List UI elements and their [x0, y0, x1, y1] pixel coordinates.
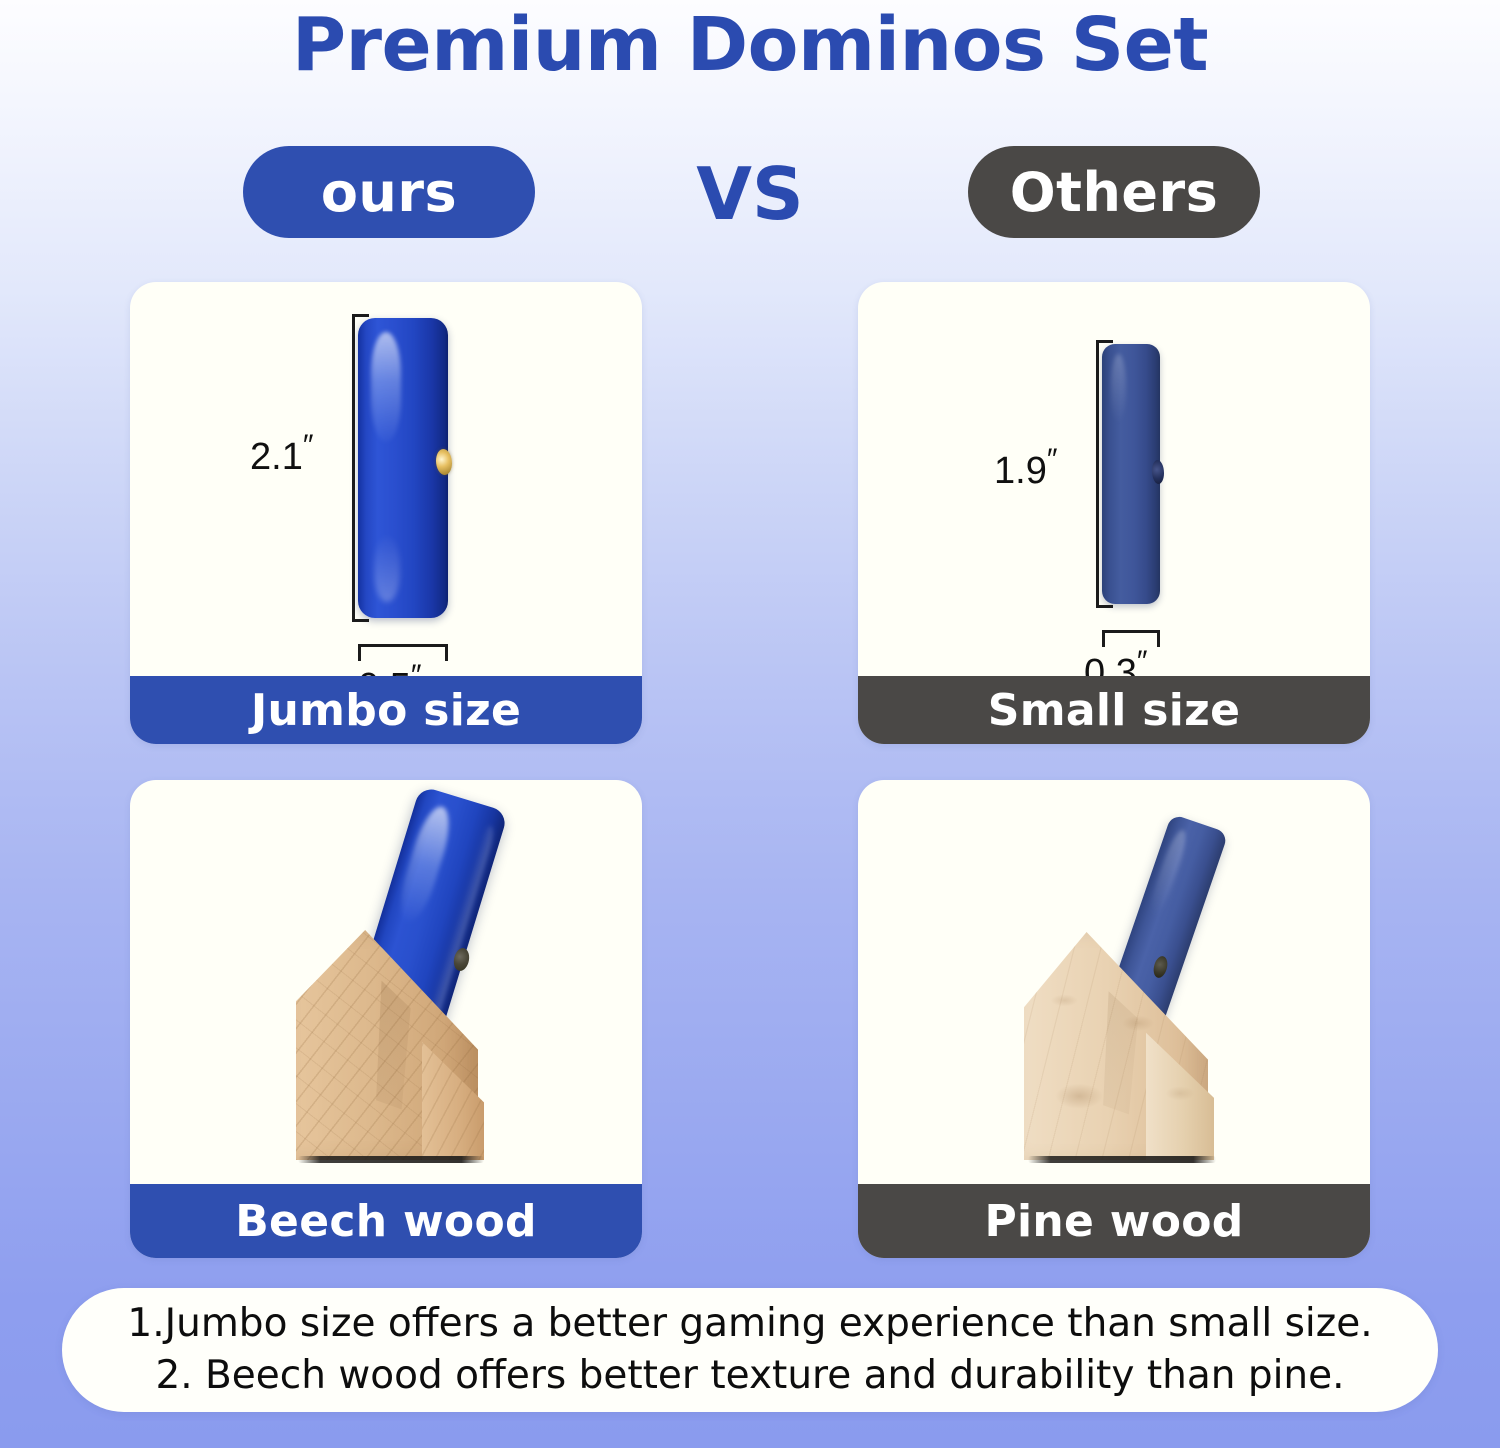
vs-label: VS [600, 148, 900, 240]
domino-ours-side-view [358, 318, 448, 618]
card-pine-image [858, 780, 1370, 1184]
card-beech-image [130, 780, 642, 1184]
height-dimension-bracket [1096, 340, 1099, 608]
card-caption-small: Small size [858, 676, 1370, 744]
dark-pin-icon [1152, 460, 1164, 484]
card-pine-wood: Pine wood [858, 780, 1370, 1258]
height-dimension-label: 2.1″ [250, 424, 313, 479]
pine-stand-scene [858, 780, 1370, 1184]
badge-others: Others [968, 146, 1260, 238]
badge-ours: ours [243, 146, 535, 238]
card-jumbo-size: 2.1″ 0.5″ Jumbo size [130, 282, 642, 744]
footer-note-1: 1.Jumbo size offers a better gaming expe… [127, 1298, 1372, 1350]
card-caption-pine-label: Pine wood [984, 1196, 1243, 1247]
height-dimension-bracket [352, 314, 355, 622]
comparison-header: ours VS Others [0, 146, 1500, 242]
card-caption-beech: Beech wood [130, 1184, 642, 1258]
width-dimension-label: 0.3″ [1084, 640, 1147, 676]
card-jumbo-image: 2.1″ 0.5″ [130, 282, 642, 676]
card-caption-beech-label: Beech wood [235, 1196, 537, 1247]
width-dimension-bracket [358, 644, 448, 647]
card-caption-jumbo: Jumbo size [130, 676, 642, 744]
card-small-size: 1.9″ 0.3″ Small size [858, 282, 1370, 744]
beech-stand-scene [130, 780, 642, 1184]
card-caption-jumbo-label: Jumbo size [251, 685, 521, 736]
brass-pin-icon [436, 449, 452, 475]
card-small-image: 1.9″ 0.3″ [858, 282, 1370, 676]
card-caption-small-label: Small size [988, 685, 1240, 736]
footer-note-2: 2. Beech wood offers better texture and … [155, 1350, 1344, 1402]
footer-notes: 1.Jumbo size offers a better gaming expe… [62, 1288, 1438, 1412]
card-caption-pine: Pine wood [858, 1184, 1370, 1258]
stand-base-shadow [1028, 1156, 1216, 1163]
badge-ours-label: ours [321, 161, 457, 224]
badge-others-label: Others [1010, 161, 1219, 224]
page-title: Premium Dominos Set [0, 2, 1500, 88]
height-dimension-label: 1.9″ [994, 438, 1057, 493]
card-beech-wood: Beech wood [130, 780, 642, 1258]
width-dimension-bracket [1102, 630, 1160, 633]
stand-base-shadow [298, 1156, 484, 1163]
width-dimension-label: 0.5″ [358, 654, 421, 676]
